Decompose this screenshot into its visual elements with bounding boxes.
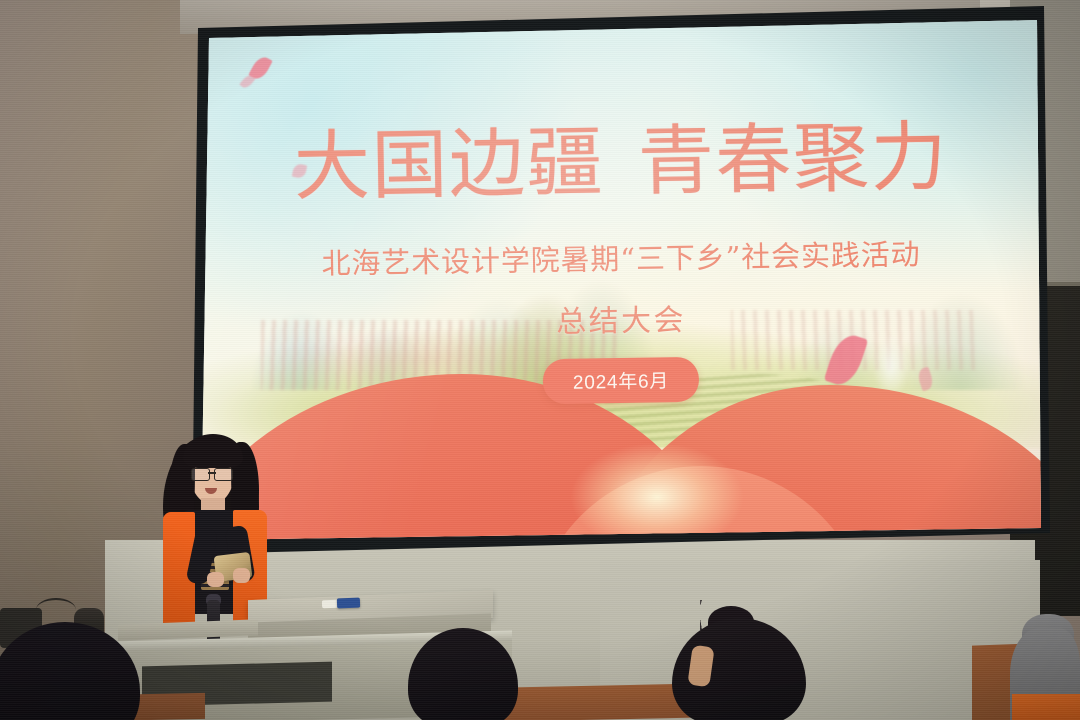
presenter-hair-fringe: [183, 434, 243, 468]
projection-screen-surface: 大国边疆青春聚力 北海艺术设计学院暑期“三下乡”社会实践活动 总结大会 2024…: [201, 18, 1041, 540]
classroom-presentation-photo: 大国边疆青春聚力 北海艺术设计学院暑期“三下乡”社会实践活动 总结大会 2024…: [0, 0, 1080, 720]
audience-person-right-orange: [1012, 694, 1080, 720]
title-gap: [604, 188, 638, 189]
slide-main-title: 大国边疆青春聚力: [201, 117, 1041, 206]
glasses-bridge: [208, 472, 216, 474]
slide-title-part2: 青春聚力: [637, 112, 948, 206]
glasses-right-lens: [214, 468, 233, 481]
presenter-left-hand: [207, 572, 224, 587]
slide-date-badge: 2024年6月: [543, 357, 700, 404]
glasses-icon: [191, 468, 233, 479]
cable: [36, 598, 76, 622]
slide-sun-glow: [537, 422, 777, 540]
slide-title-part1: 大国边疆: [293, 117, 604, 211]
desk-blue-object: [337, 598, 360, 609]
presenter-right-hand: [233, 568, 250, 583]
glasses-left-lens: [191, 468, 210, 481]
